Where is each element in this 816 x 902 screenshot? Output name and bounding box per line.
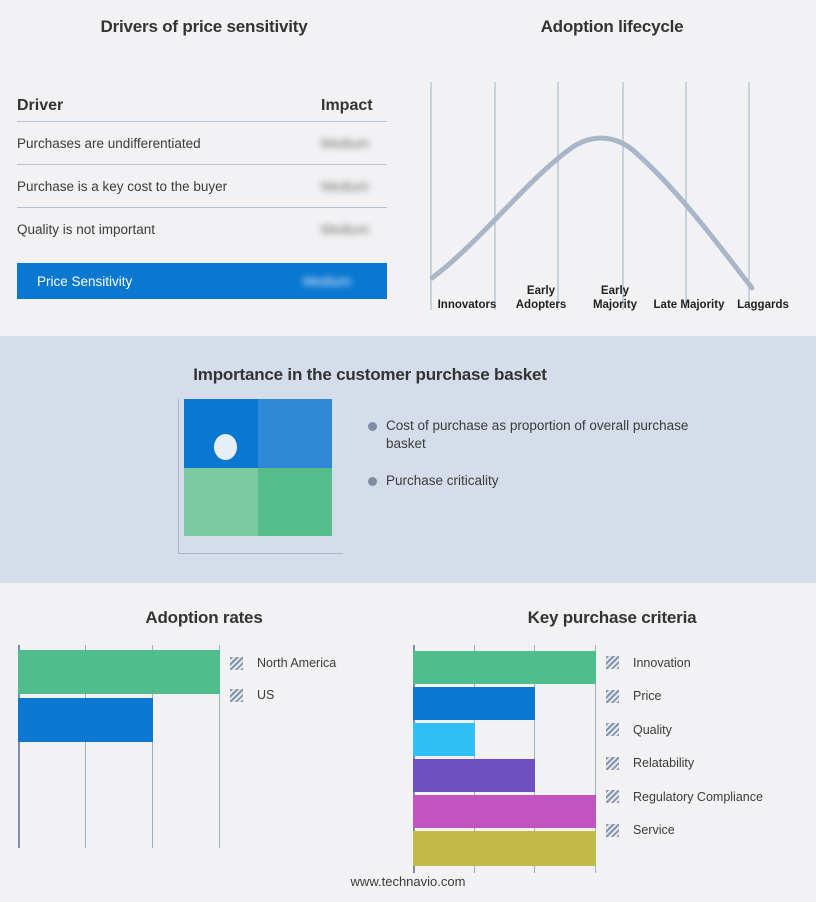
quadrant-position-marker xyxy=(214,434,237,460)
legend-item-purchase-criticality: Purchase criticality xyxy=(368,472,698,490)
legend-label: Innovation xyxy=(633,656,691,670)
driver-impact-value: Medium xyxy=(321,136,387,151)
price-sensitivity-label: Price Sensitivity xyxy=(37,274,132,289)
infographic-page: Drivers of price sensitivity Driver Impa… xyxy=(0,0,816,902)
table-row: Purchases are undifferentiated Medium xyxy=(17,122,387,165)
quadrant-top-right xyxy=(258,399,332,468)
bar-innovation xyxy=(413,651,596,684)
adoption-lifecycle-panel: Adoption lifecycle Innovators Early Adop… xyxy=(408,0,816,336)
legend-label: Quality xyxy=(633,723,672,737)
legend-label: Regulatory Compliance xyxy=(633,790,763,804)
drivers-table: Driver Impact Purchases are undifferenti… xyxy=(17,90,387,299)
legend-item-regulatory-compliance: Regulatory Compliance xyxy=(606,780,763,814)
hatched-swatch-icon xyxy=(606,723,619,736)
bullet-dot-icon xyxy=(368,422,377,431)
table-header-row: Driver Impact xyxy=(17,90,387,122)
quadrant-x-axis xyxy=(178,553,343,554)
adoption-lifecycle-title: Adoption lifecycle xyxy=(408,17,816,37)
bullet-dot-icon xyxy=(368,477,377,486)
legend-label: Relatability xyxy=(633,756,694,770)
driver-name: Purchases are undifferentiated xyxy=(17,136,201,151)
lifecycle-stage-laggards: Laggards xyxy=(726,298,800,314)
bar-regulatory-compliance xyxy=(413,795,596,828)
adoption-rates-plot xyxy=(18,645,221,848)
legend-label: US xyxy=(257,688,274,702)
legend-label: North America xyxy=(257,656,336,670)
legend-label: Purchase criticality xyxy=(386,472,499,490)
lifecycle-stage-early-adopters: Early Adopters xyxy=(504,284,578,314)
key-purchase-criteria-title: Key purchase criteria xyxy=(408,608,816,628)
legend-item-quality: Quality xyxy=(606,713,763,747)
footer-watermark: www.technavio.com xyxy=(0,874,816,889)
adoption-rates-title: Adoption rates xyxy=(0,608,408,628)
lifecycle-stage-innovators: Innovators xyxy=(430,298,504,314)
purchase-basket-title: Importance in the customer purchase bask… xyxy=(0,365,740,385)
adoption-rates-panel: Adoption rates North America US xyxy=(0,583,408,902)
driver-name: Purchase is a key cost to the buyer xyxy=(17,179,227,194)
purchase-basket-panel: Importance in the customer purchase bask… xyxy=(0,336,816,583)
price-sensitivity-impact-value: Medium xyxy=(303,274,369,289)
bar-relatability xyxy=(413,759,535,792)
key-purchase-criteria-legend: Innovation Price Quality Relatability Re… xyxy=(606,646,763,847)
legend-item-cost-of-purchase: Cost of purchase as proportion of overal… xyxy=(368,417,698,453)
bar-north-america xyxy=(18,650,220,694)
column-header-impact: Impact xyxy=(321,97,387,115)
hatched-swatch-icon xyxy=(606,690,619,703)
adoption-rates-legend: North America US xyxy=(230,647,336,711)
bar-us xyxy=(18,698,153,742)
legend-label: Cost of purchase as proportion of overal… xyxy=(386,417,698,453)
quadrant-bottom-left xyxy=(184,468,258,537)
quadrant-grid xyxy=(184,399,332,536)
quadrant-y-axis xyxy=(178,399,179,554)
hatched-swatch-icon xyxy=(230,657,243,670)
legend-item-north-america: North America xyxy=(230,647,336,679)
hatched-swatch-icon xyxy=(606,656,619,669)
bar-price xyxy=(413,687,535,720)
driver-impact-value: Medium xyxy=(321,222,387,237)
drivers-panel: Drivers of price sensitivity Driver Impa… xyxy=(0,0,408,336)
bell-curve-path xyxy=(432,138,752,288)
column-header-driver: Driver xyxy=(17,97,63,115)
key-purchase-criteria-plot xyxy=(413,645,598,873)
table-row: Purchase is a key cost to the buyer Medi… xyxy=(17,165,387,208)
lifecycle-stage-labels: Innovators Early Adopters Early Majority… xyxy=(430,272,800,314)
legend-item-price: Price xyxy=(606,680,763,714)
price-sensitivity-summary-row: Price Sensitivity Medium xyxy=(17,263,387,299)
driver-impact-value: Medium xyxy=(321,179,387,194)
quadrant-chart xyxy=(178,399,343,559)
bar-quality xyxy=(413,723,475,756)
legend-label: Price xyxy=(633,689,661,703)
lifecycle-stage-early-majority: Early Majority xyxy=(578,284,652,314)
legend-item-service: Service xyxy=(606,814,763,848)
legend-item-innovation: Innovation xyxy=(606,646,763,680)
hatched-swatch-icon xyxy=(606,757,619,770)
legend-label: Service xyxy=(633,823,675,837)
key-purchase-criteria-panel: Key purchase criteria Innovation Pri xyxy=(408,583,816,902)
table-row: Quality is not important Medium xyxy=(17,208,387,251)
driver-name: Quality is not important xyxy=(17,222,155,237)
lifecycle-stage-late-majority: Late Majority xyxy=(652,298,726,314)
purchase-basket-legend: Cost of purchase as proportion of overal… xyxy=(368,417,698,509)
legend-item-us: US xyxy=(230,679,336,711)
hatched-swatch-icon xyxy=(230,689,243,702)
hatched-swatch-icon xyxy=(606,824,619,837)
legend-item-relatability: Relatability xyxy=(606,747,763,781)
bar-service xyxy=(413,831,596,866)
drivers-title: Drivers of price sensitivity xyxy=(0,17,408,37)
hatched-swatch-icon xyxy=(606,790,619,803)
quadrant-bottom-right xyxy=(258,468,332,537)
